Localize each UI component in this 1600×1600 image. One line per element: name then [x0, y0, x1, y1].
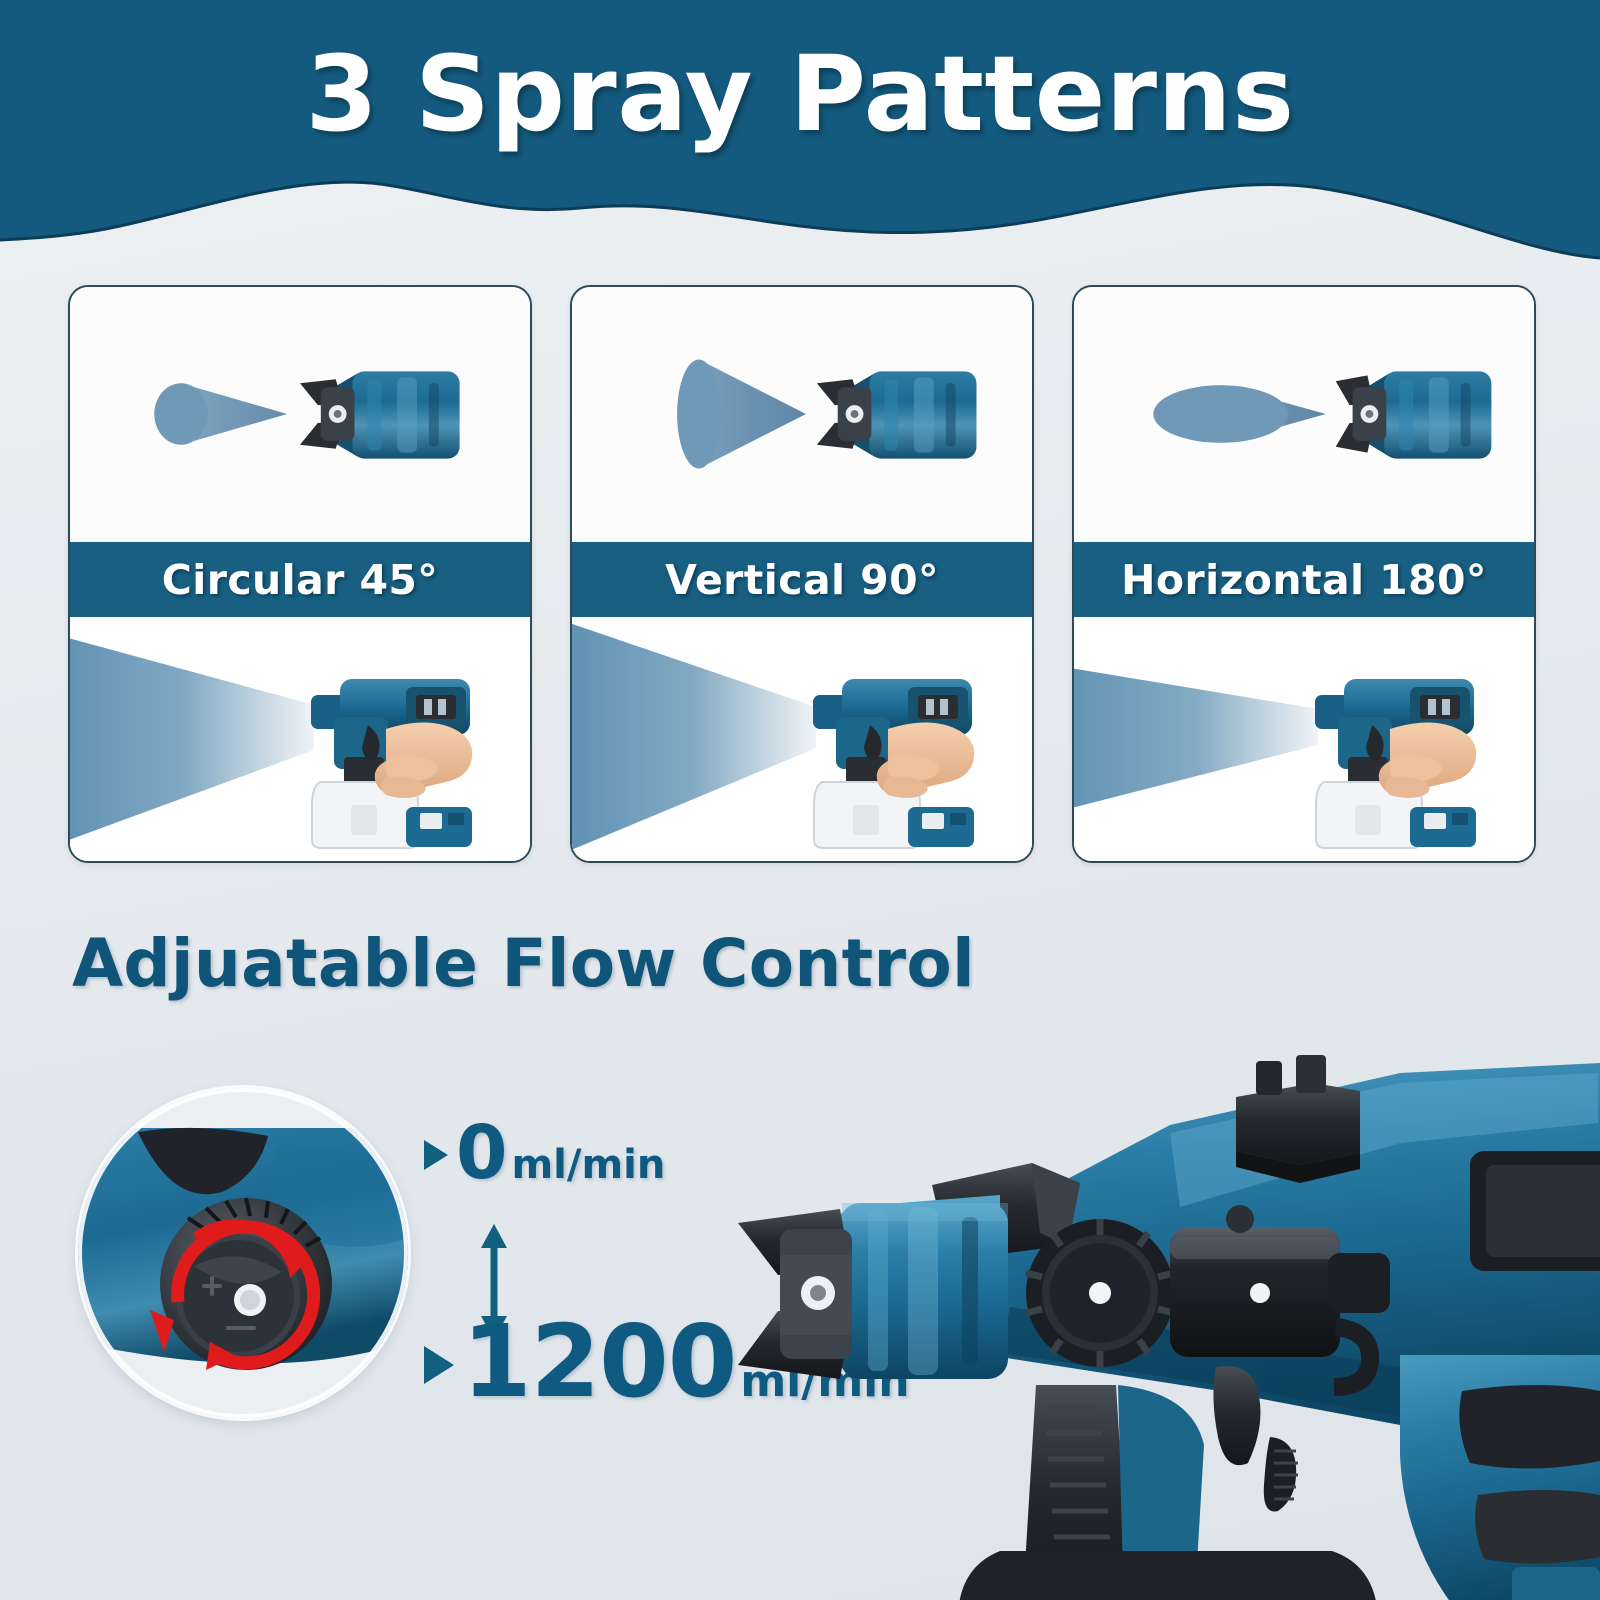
infographic-page: 3 Spray Patterns [0, 0, 1600, 1600]
spray-pattern-card-list: Circular 45° [68, 285, 1536, 863]
flow-readout-min: 0 ml/min [424, 1110, 665, 1196]
vertical-fan-spray-icon [572, 287, 1032, 542]
flow-control-knob-icon [78, 1088, 408, 1418]
spray-gun-icon [700, 955, 1600, 1600]
triangle-bullet-icon [424, 1346, 454, 1384]
card-label-vertical: Vertical 90° [572, 542, 1032, 617]
spray-pattern-card-horizontal[interactable]: Horizontal 180° [1072, 285, 1536, 863]
demo-photo-vertical [572, 617, 1032, 863]
card-label-horizontal: Horizontal 180° [1074, 542, 1534, 617]
nozzle-illustration-vertical [572, 287, 1032, 542]
horizontal-fan-spray-icon [1074, 287, 1534, 542]
hand-holding-sprayer-horizontal-icon [1074, 617, 1534, 863]
flow-max-value: 1200 [462, 1303, 736, 1420]
nozzle-illustration-horizontal [1074, 287, 1534, 542]
flow-min-value: 0 [456, 1110, 508, 1196]
hand-holding-sprayer-vertical-icon [572, 617, 1032, 863]
page-title: 3 Spray Patterns [0, 38, 1600, 150]
demo-photo-circular [70, 617, 530, 863]
hand-holding-sprayer-circular-icon [70, 617, 530, 863]
spray-pattern-card-circular[interactable]: Circular 45° [68, 285, 532, 863]
triangle-bullet-icon [424, 1140, 448, 1170]
spray-pattern-card-vertical[interactable]: Vertical 90° [570, 285, 1034, 863]
circular-cone-spray-icon [70, 287, 530, 542]
flow-knob-closeup [78, 1088, 408, 1418]
flow-min-unit: ml/min [512, 1142, 666, 1188]
demo-photo-horizontal [1074, 617, 1534, 863]
card-label-circular: Circular 45° [70, 542, 530, 617]
spray-gun-hero-image [700, 955, 1600, 1600]
nozzle-illustration-circular [70, 287, 530, 542]
